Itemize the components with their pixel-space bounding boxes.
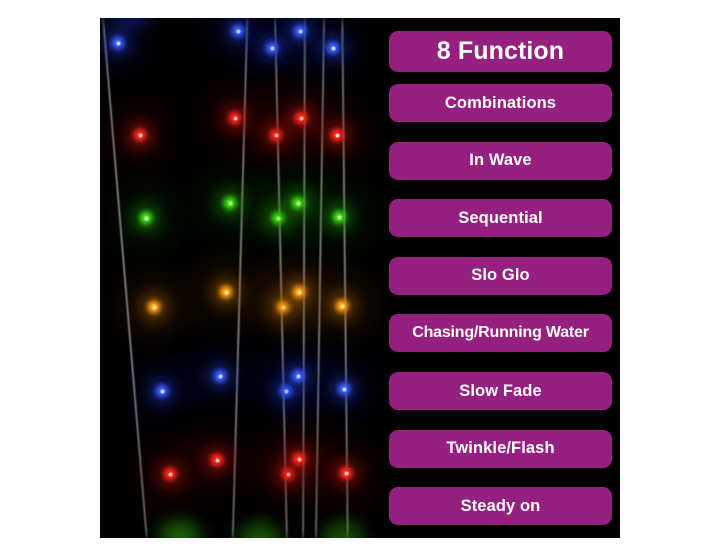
light-strand-wire: [302, 18, 306, 538]
led-glow-faint: [323, 522, 363, 538]
function-button-steady-on: Steady on: [389, 487, 612, 525]
led-bulb-blue: [115, 40, 122, 47]
product-photo: 8 Function CombinationsIn WaveSequential…: [100, 18, 620, 538]
led-bulb-green: [295, 200, 302, 207]
led-bulb-blue: [295, 373, 302, 380]
function-button-chasing-running-water: Chasing/Running Water: [389, 314, 612, 352]
led-bulb-blue: [341, 386, 348, 393]
led-bulb-red: [137, 132, 144, 139]
light-strand-wire: [232, 18, 249, 538]
panel-title-text: 8 Function: [437, 37, 564, 66]
function-button-combinations: Combinations: [389, 84, 612, 122]
led-bulb-red: [214, 457, 221, 464]
function-button-slow-fade: Slow Fade: [389, 372, 612, 410]
function-button-label: Chasing/Running Water: [412, 324, 589, 342]
led-bulb-blue: [269, 45, 276, 52]
function-button-label: Slo Glo: [471, 266, 529, 285]
function-button-label: Slow Fade: [459, 382, 542, 401]
led-bulb-blue: [330, 45, 337, 52]
led-bulb-red: [285, 471, 292, 478]
function-button-sequential: Sequential: [389, 199, 612, 237]
led-bulb-orange: [296, 289, 303, 296]
function-button-label: In Wave: [469, 151, 531, 170]
led-bulb-red: [298, 115, 305, 122]
function-button-label: Sequential: [458, 209, 542, 228]
led-bulb-red: [232, 115, 239, 122]
light-strand-wire: [102, 18, 149, 538]
led-glow-faint: [160, 521, 200, 538]
led-bulb-red: [334, 132, 341, 139]
function-button-twinkle-flash: Twinkle/Flash: [389, 430, 612, 468]
light-strand-wire: [315, 18, 325, 538]
led-bulb-orange: [280, 304, 287, 311]
led-bulb-red: [343, 470, 350, 477]
led-bulb-blue: [235, 28, 242, 35]
led-glow-faint: [110, 18, 150, 29]
led-bulb-green: [227, 200, 234, 207]
product-image-page: { "photo": { "background_color": "#00000…: [0, 0, 720, 557]
led-bulb-blue: [297, 28, 304, 35]
led-bulb-green: [275, 215, 282, 222]
function-button-slo-glo: Slo Glo: [389, 257, 612, 295]
led-bulb-red: [273, 132, 280, 139]
led-bulb-blue: [159, 388, 166, 395]
led-bulb-green: [143, 215, 150, 222]
light-strand-wire: [341, 18, 349, 538]
led-bulb-orange: [223, 289, 230, 296]
function-button-label: Combinations: [445, 94, 556, 113]
led-bulb-red: [167, 471, 174, 478]
led-bulb-blue: [217, 373, 224, 380]
led-bulb-green: [336, 214, 343, 221]
function-button-in-wave: In Wave: [389, 142, 612, 180]
led-glow-faint: [240, 523, 280, 538]
panel-title-badge: 8 Function: [389, 31, 612, 72]
function-button-label: Twinkle/Flash: [446, 439, 554, 458]
led-light-curtain: [100, 18, 385, 538]
function-label-panel: 8 Function CombinationsIn WaveSequential…: [389, 18, 620, 538]
led-bulb-orange: [339, 303, 346, 310]
led-bulb-red: [296, 456, 303, 463]
led-bulb-blue: [283, 388, 290, 395]
led-bulb-orange: [151, 304, 158, 311]
function-button-label: Steady on: [461, 497, 541, 516]
light-strand-wire: [274, 18, 288, 538]
